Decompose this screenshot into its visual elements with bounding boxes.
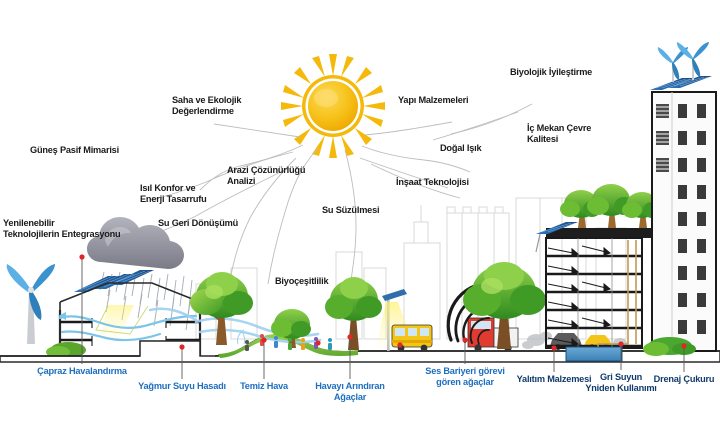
label-biyocesitlilik: Biyoçeşitlilik bbox=[275, 276, 328, 287]
airflow-arrows-icon bbox=[60, 316, 196, 340]
sun-icon bbox=[281, 54, 385, 158]
label-yapi-malzemeleri: Yapı Malzemeleri bbox=[398, 95, 468, 106]
label-drenaj-cukuru: Drenaj Çukuru bbox=[647, 374, 720, 385]
label-su-suzulmesi: Su Süzülmesi bbox=[322, 205, 379, 216]
label-capraz-havalandirma: Çapraz Havalandırma bbox=[27, 366, 137, 377]
label-saha-ve-ekolojik: Saha ve Ekolojik Değerlendirme bbox=[172, 95, 241, 117]
label-insaat-teknolojisi: İnşaat Teknolojisi bbox=[396, 177, 469, 188]
solar-panel-icon bbox=[650, 76, 712, 90]
label-yenilenebilir-teknolojiler: Yenilenebilir Teknolojilerin Entegrasyon… bbox=[3, 218, 120, 240]
label-arazi-cozunurlugu: Arazi Çözünürlüğü Analizi bbox=[227, 165, 305, 187]
label-isil-konfor: Isıl Konfor ve Enerji Tasarrufu bbox=[140, 183, 207, 205]
label-ic-mekan-cevre-kalitesi: İç Mekan Çevre Kalitesi bbox=[527, 123, 591, 145]
infographic-canvas: Güneş Pasif MimarisiSaha ve Ekolojik Değ… bbox=[0, 0, 720, 427]
wind-turbine-icon bbox=[7, 264, 55, 344]
label-temiz-hava: Temiz Hava bbox=[229, 381, 299, 392]
label-dogal-isik: Doğal Işık bbox=[440, 143, 481, 154]
label-ses-bariyeri: Ses Bariyeri görevi gören ağaçlar bbox=[415, 366, 515, 388]
label-havayi-arindiran: Havayı Arındıran Ağaçlar bbox=[304, 381, 396, 403]
label-yagmur-suyu-hasadi: Yağmur Suyu Hasadı bbox=[130, 381, 234, 392]
high-rise-building-icon bbox=[650, 42, 716, 351]
daylight-arrows-icon bbox=[548, 246, 610, 346]
label-su-geri-donusumu: Su Geri Dönüşümü bbox=[158, 218, 238, 229]
label-biyolojik-iyilestirme: Biyolojik İyileştirme bbox=[510, 67, 592, 78]
label-gunes-pasif-mimarisi: Güneş Pasif Mimarisi bbox=[30, 145, 119, 156]
greywater-tank-icon bbox=[566, 347, 622, 361]
